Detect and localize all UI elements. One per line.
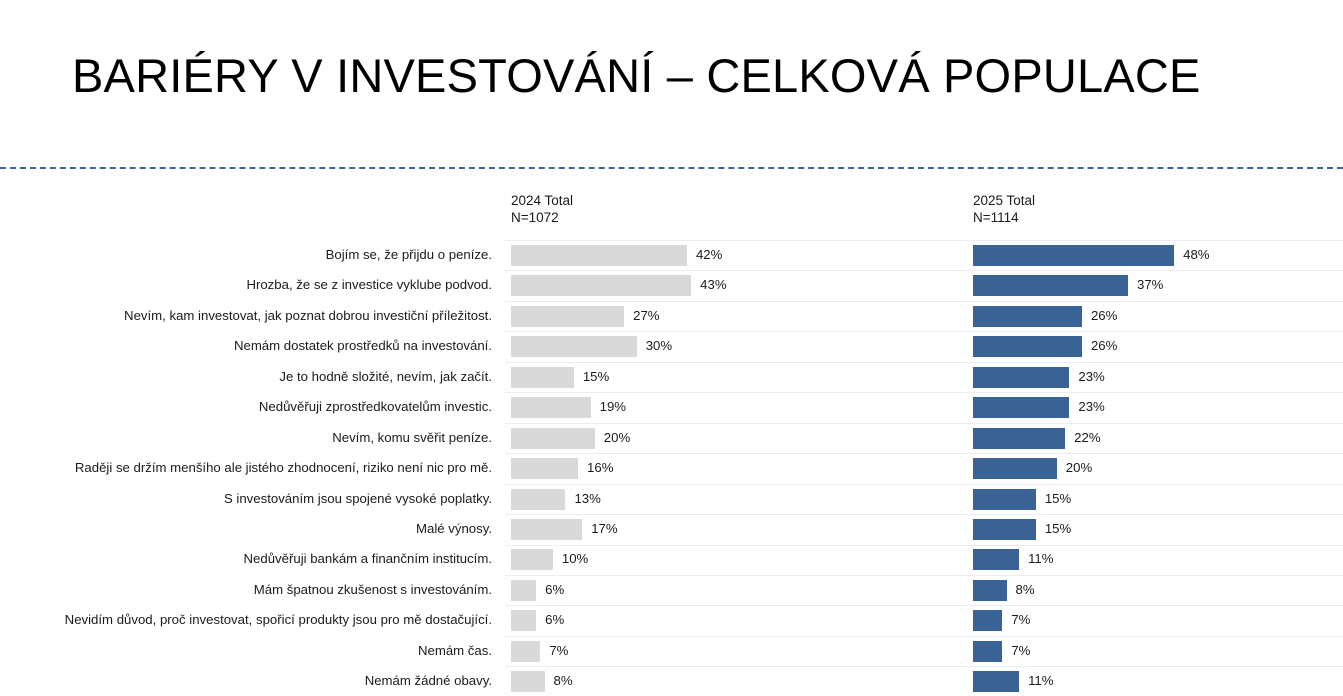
bar-2025: [973, 519, 1036, 540]
bar-2025-value: 23%: [1078, 392, 1104, 422]
bar-2024: [511, 397, 591, 418]
chart-rows: Bojím se, že přijdu o peníze.42%48%Hrozb…: [0, 240, 1343, 696]
bar-2024: [511, 275, 691, 296]
bar-2024: [511, 549, 553, 570]
bar-2024: [511, 458, 578, 479]
bar-2025: [973, 245, 1174, 266]
bar-2025-value: 22%: [1074, 423, 1100, 453]
bar-2024-track: 7%: [511, 636, 966, 666]
bar-2025-track: 11%: [973, 544, 1343, 574]
row-label: Nemám čas.: [418, 636, 492, 666]
chart-row: Nemám čas.7%7%: [0, 636, 1343, 666]
bar-2024-value: 6%: [545, 575, 564, 605]
bar-2024-track: 6%: [511, 605, 966, 635]
chart-row: Mám špatnou zkušenost s investováním.6%8…: [0, 575, 1343, 605]
bar-2025: [973, 458, 1057, 479]
bar-2025-value: 23%: [1078, 362, 1104, 392]
bar-2024-value: 43%: [700, 270, 726, 300]
row-label: Mám špatnou zkušenost s investováním.: [254, 575, 492, 605]
chart-row: Nevím, komu svěřit peníze.20%22%: [0, 423, 1343, 453]
bar-2025-track: 11%: [973, 666, 1343, 696]
bar-2024: [511, 336, 637, 357]
chart-row: Malé výnosy.17%15%: [0, 514, 1343, 544]
row-label: Raději se držím menšího ale jistého zhod…: [75, 453, 492, 483]
row-label: Nevím, kam investovat, jak poznat dobrou…: [124, 301, 492, 331]
bar-2025-value: 15%: [1045, 484, 1071, 514]
bar-2024: [511, 519, 582, 540]
bar-2024-track: 20%: [511, 423, 966, 453]
chart-row: S investováním jsou spojené vysoké popla…: [0, 484, 1343, 514]
bar-2024-value: 13%: [574, 484, 600, 514]
bar-chart: 2024 Total N=1072 2025 Total N=1114 Bojí…: [0, 178, 1343, 696]
bar-2025-track: 7%: [973, 636, 1343, 666]
chart-row: Raději se držím menšího ale jistého zhod…: [0, 453, 1343, 483]
bar-2025-value: 20%: [1066, 453, 1092, 483]
row-label: Bojím se, že přijdu o peníze.: [326, 240, 492, 270]
title-divider: [0, 167, 1343, 169]
bar-2024-value: 6%: [545, 605, 564, 635]
column-header-2024-base: N=1072: [511, 209, 573, 226]
bar-2025-track: 26%: [973, 301, 1343, 331]
row-label: Nedůvěřuji bankám a finančním institucím…: [244, 544, 492, 574]
chart-row: Bojím se, že přijdu o peníze.42%48%: [0, 240, 1343, 270]
bar-2025: [973, 610, 1002, 631]
bar-2025-value: 8%: [1016, 575, 1035, 605]
page-title: BARIÉRY V INVESTOVÁNÍ – CELKOVÁ POPULACE: [72, 48, 1201, 104]
row-label: Nemám dostatek prostředků na investování…: [234, 331, 492, 361]
bar-2024-value: 19%: [600, 392, 626, 422]
bar-2024-track: 17%: [511, 514, 966, 544]
column-header-2025-base: N=1114: [973, 209, 1035, 226]
bar-2025: [973, 641, 1002, 662]
bar-2024-track: 13%: [511, 484, 966, 514]
bar-2024: [511, 428, 595, 449]
bar-2025: [973, 428, 1065, 449]
slide: BARIÉRY V INVESTOVÁNÍ – CELKOVÁ POPULACE…: [0, 0, 1343, 696]
row-label: Nevidím důvod, proč investovat, spořicí …: [65, 605, 492, 635]
chart-row: Nemám žádné obavy.8%11%: [0, 666, 1343, 696]
row-label: Malé výnosy.: [416, 514, 492, 544]
bar-2025-track: 8%: [973, 575, 1343, 605]
chart-row: Nemám dostatek prostředků na investování…: [0, 331, 1343, 361]
bar-2024: [511, 610, 536, 631]
bar-2024-track: 42%: [511, 240, 966, 270]
bar-2024: [511, 641, 540, 662]
bar-2024-track: 8%: [511, 666, 966, 696]
chart-row: Nevidím důvod, proč investovat, spořicí …: [0, 605, 1343, 635]
bar-2024-value: 16%: [587, 453, 613, 483]
bar-2024-track: 30%: [511, 331, 966, 361]
bar-2025-track: 7%: [973, 605, 1343, 635]
bar-2025-track: 48%: [973, 240, 1343, 270]
bar-2025-value: 37%: [1137, 270, 1163, 300]
bar-2024: [511, 367, 574, 388]
bar-2024-track: 16%: [511, 453, 966, 483]
bar-2025-value: 11%: [1028, 544, 1053, 574]
bar-2025-track: 23%: [973, 362, 1343, 392]
bar-2024-value: 10%: [562, 544, 588, 574]
row-label: S investováním jsou spojené vysoké popla…: [224, 484, 492, 514]
bar-2024-track: 15%: [511, 362, 966, 392]
bar-2024-value: 17%: [591, 514, 617, 544]
bar-2025-track: 26%: [973, 331, 1343, 361]
bar-2024-track: 10%: [511, 544, 966, 574]
bar-2024-track: 27%: [511, 301, 966, 331]
row-label: Nevím, komu svěřit peníze.: [332, 423, 492, 453]
row-label: Nemám žádné obavy.: [365, 666, 492, 696]
chart-row: Hrozba, že se z investice vyklube podvod…: [0, 270, 1343, 300]
bar-2025: [973, 549, 1019, 570]
bar-2025: [973, 580, 1007, 601]
bar-2025-track: 23%: [973, 392, 1343, 422]
bar-2024: [511, 580, 536, 601]
bar-2025-value: 7%: [1011, 605, 1030, 635]
bar-2025: [973, 306, 1082, 327]
bar-2024-value: 27%: [633, 301, 659, 331]
bar-2024-value: 42%: [696, 240, 722, 270]
bar-2025: [973, 397, 1069, 418]
bar-2024: [511, 306, 624, 327]
bar-2025-value: 11%: [1028, 666, 1053, 696]
bar-2024-value: 8%: [554, 666, 573, 696]
bar-2025-value: 48%: [1183, 240, 1209, 270]
bar-2025: [973, 367, 1069, 388]
bar-2025-track: 22%: [973, 423, 1343, 453]
bar-2024: [511, 245, 687, 266]
title-block: BARIÉRY V INVESTOVÁNÍ – CELKOVÁ POPULACE: [0, 0, 1343, 160]
bar-2024-track: 43%: [511, 270, 966, 300]
bar-2025-track: 20%: [973, 453, 1343, 483]
bar-2025-value: 26%: [1091, 301, 1117, 331]
bar-2025: [973, 489, 1036, 510]
bar-2025-track: 15%: [973, 514, 1343, 544]
chart-row: Je to hodně složité, nevím, jak začít.15…: [0, 362, 1343, 392]
bar-2025: [973, 671, 1019, 692]
chart-row: Nevím, kam investovat, jak poznat dobrou…: [0, 301, 1343, 331]
column-header-2025-title: 2025 Total: [973, 192, 1035, 209]
bar-2025: [973, 336, 1082, 357]
column-header-2024: 2024 Total N=1072: [511, 192, 573, 226]
bar-2025-track: 15%: [973, 484, 1343, 514]
bar-2025-value: 7%: [1011, 636, 1030, 666]
bar-2024-value: 15%: [583, 362, 609, 392]
chart-row: Nedůvěřuji zprostředkovatelům investic.1…: [0, 392, 1343, 422]
bar-2024: [511, 489, 565, 510]
bar-2024-value: 20%: [604, 423, 630, 453]
row-label: Je to hodně složité, nevím, jak začít.: [279, 362, 492, 392]
bar-2024: [511, 671, 545, 692]
bar-2025: [973, 275, 1128, 296]
row-label: Nedůvěřuji zprostředkovatelům investic.: [259, 392, 492, 422]
row-label: Hrozba, že se z investice vyklube podvod…: [246, 270, 492, 300]
bar-2024-track: 6%: [511, 575, 966, 605]
chart-row: Nedůvěřuji bankám a finančním institucím…: [0, 544, 1343, 574]
bar-2025-value: 26%: [1091, 331, 1117, 361]
bar-2024-value: 30%: [646, 331, 672, 361]
bar-2024-track: 19%: [511, 392, 966, 422]
bar-2025-value: 15%: [1045, 514, 1071, 544]
column-header-2024-title: 2024 Total: [511, 192, 573, 209]
column-header-2025: 2025 Total N=1114: [973, 192, 1035, 226]
bar-2025-track: 37%: [973, 270, 1343, 300]
bar-2024-value: 7%: [549, 636, 568, 666]
